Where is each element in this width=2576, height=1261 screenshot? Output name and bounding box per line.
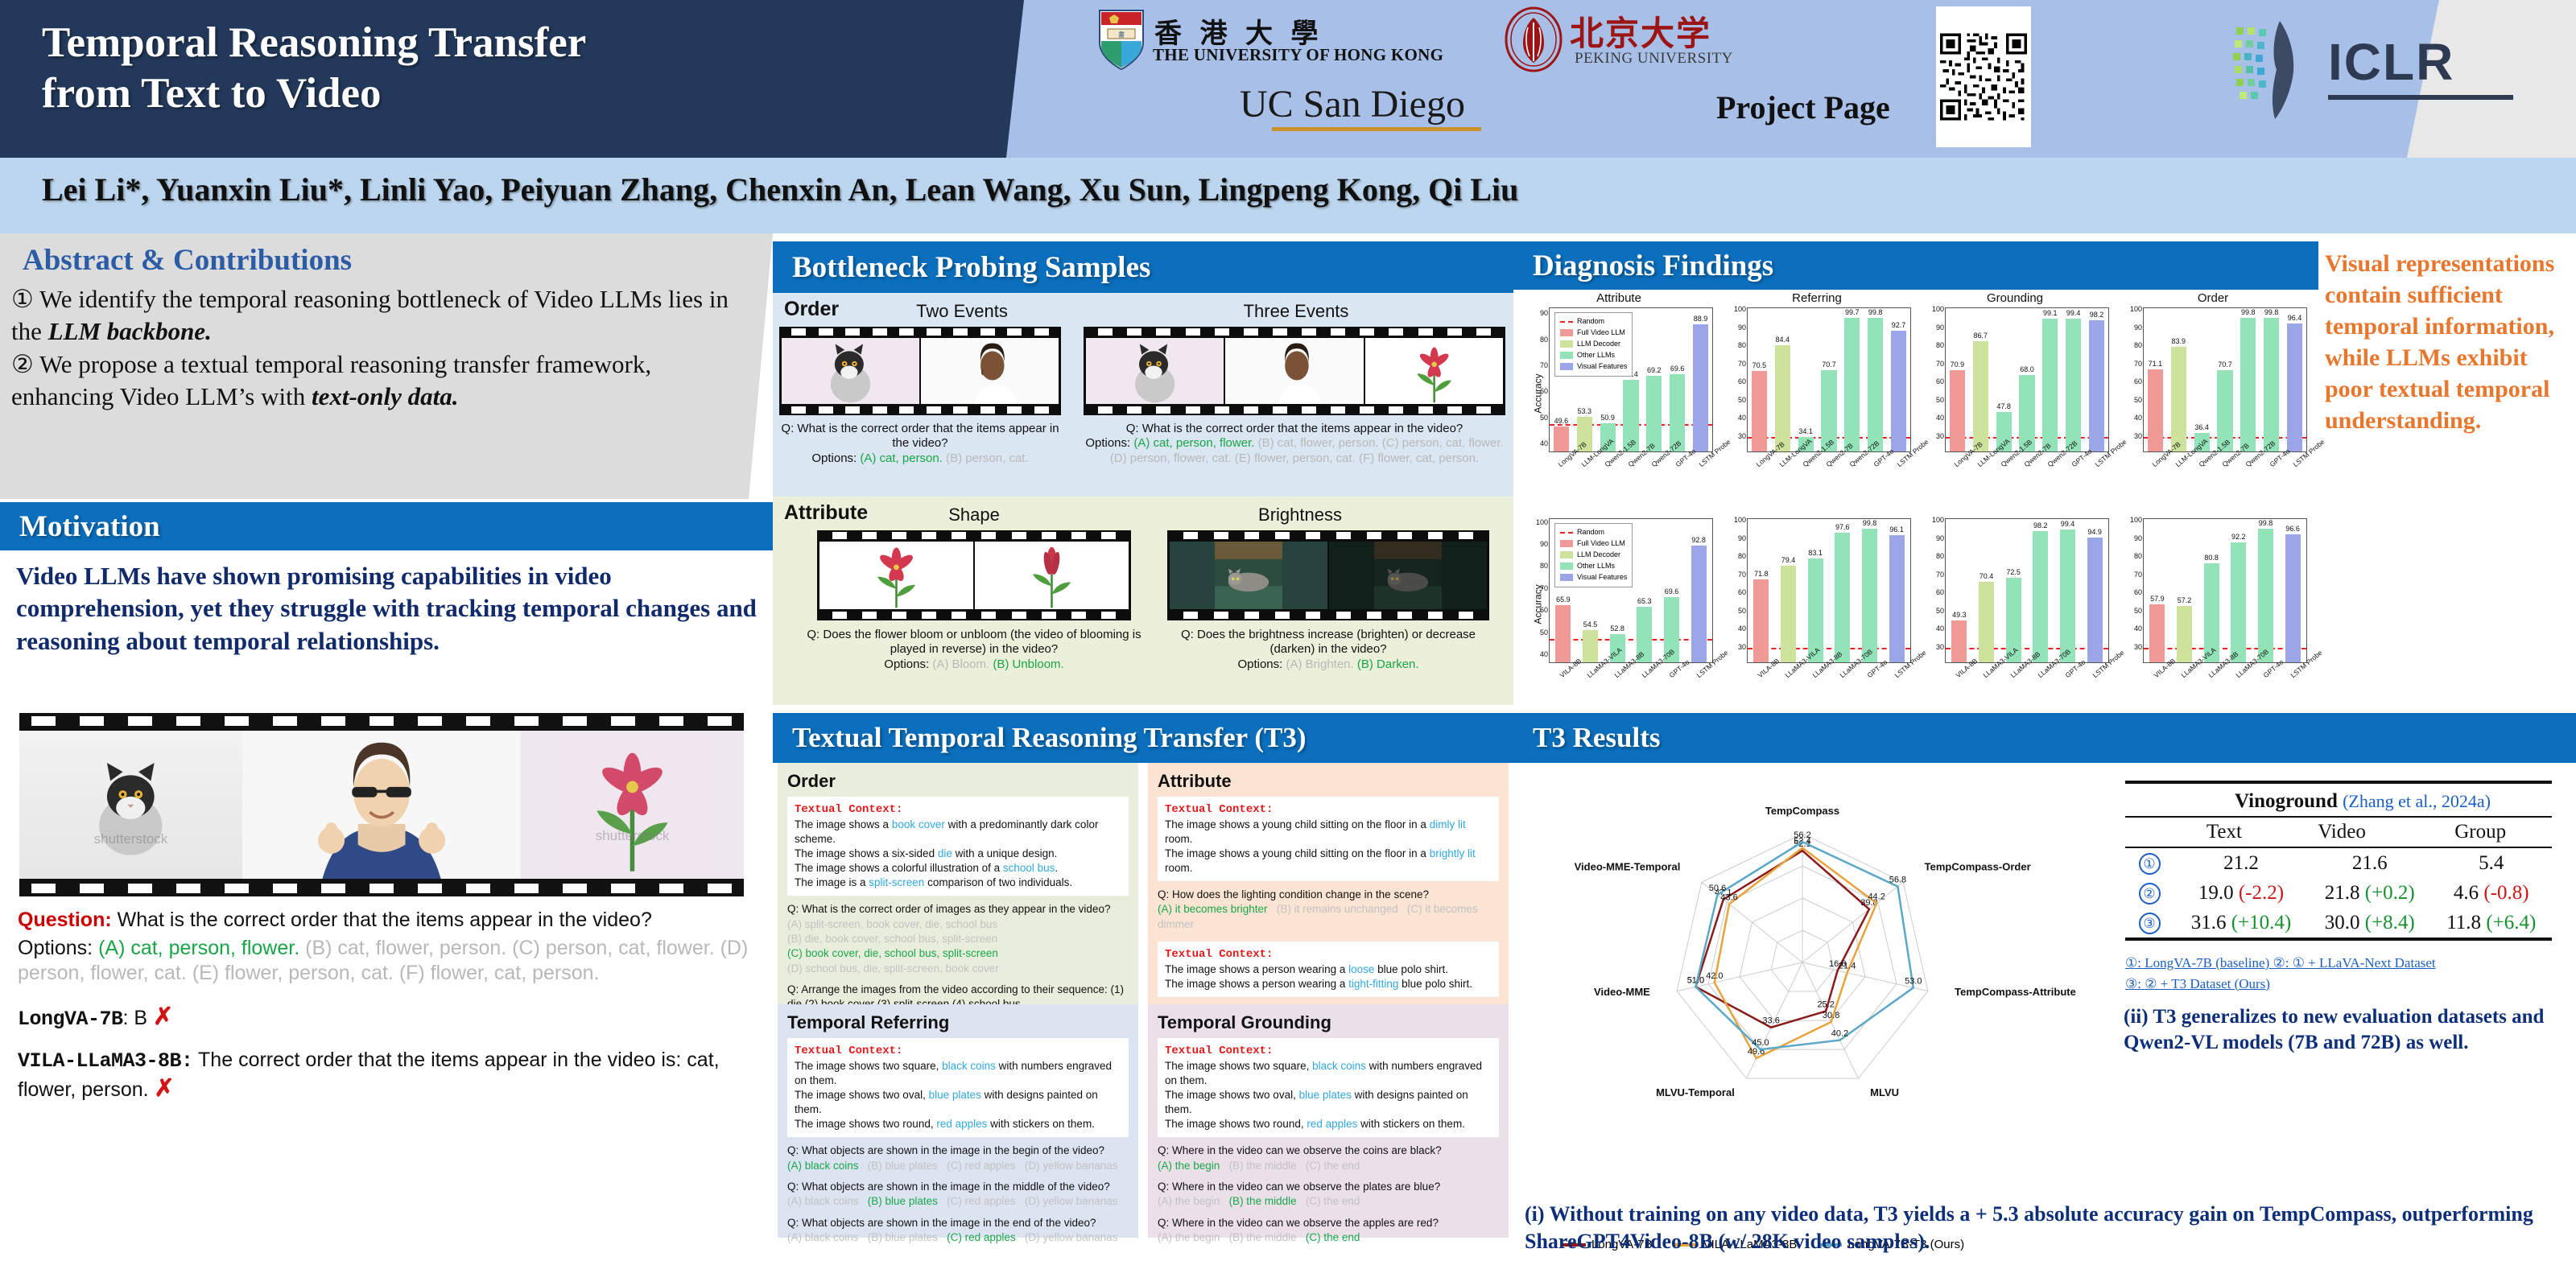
bar: 96.1 (1889, 535, 1905, 662)
radar-svg: 52.139.816.825.233.651.047.153.444.221.4… (1525, 771, 2080, 1149)
diagnosis-charts: Attribute Accuracy 405060708090 Random F… (1513, 290, 2318, 708)
three-events-label: Three Events (1191, 301, 1401, 322)
answer-option[interactable]: (B) blue plates (868, 1231, 938, 1243)
y-tick-label: 60 (1936, 588, 1944, 596)
y-tick-label: 30 (1936, 643, 1944, 651)
context-line: The image shows a young child sitting on… (1165, 847, 1492, 876)
bar: 99.8 (2258, 529, 2273, 662)
motivation-title: Motivation (19, 509, 160, 544)
pku-chinese-name: 北京大学 (1570, 6, 1711, 56)
bar: 99.4 (2060, 530, 2075, 662)
answer-option[interactable]: (B) the middle (1229, 1231, 1297, 1243)
iclr-logo-icon (2222, 18, 2318, 122)
order-section-tag: Order (784, 298, 839, 321)
two-events-label: Two Events (869, 301, 1055, 322)
vinoground-cell: 19.0 (-2.2) (2173, 878, 2309, 908)
bar: 84.4 (1775, 345, 1790, 451)
context-line: The image is a split-screen comparison o… (795, 876, 1121, 890)
t3-order-heading: Order (787, 771, 1129, 792)
y-tick-label: 80 (1738, 552, 1746, 560)
bar: 57.9 (2149, 604, 2165, 662)
probing-body: Order Two Events Three Events (773, 293, 1513, 705)
plot-area: 30405060708090100 70.584.434.170.799.799… (1747, 307, 1911, 452)
iclr-wordmark: ICLR (2328, 32, 2454, 92)
answer-option[interactable]: (A) split-screen, book cover, die, schoo… (787, 918, 997, 930)
three-events-question: Q: What is the correct order that the it… (1126, 422, 1463, 435)
probing-shape-question: Q: Does the flower bloom or unbloom (the… (805, 628, 1143, 672)
y-tick-label: 70 (1738, 360, 1746, 368)
bar: 92.2 (2231, 542, 2246, 662)
y-tick-label: 60 (1738, 588, 1746, 596)
frame-flower (1365, 338, 1503, 404)
ucsd-underline (1272, 127, 1481, 131)
bar: 71.8 (1753, 579, 1769, 662)
motivation-body: Video LLMs have shown promising capabili… (16, 560, 757, 657)
results-legend-keys: ①: LongVA-7B (baseline) ②: ① + LLaVA-Nex… (2125, 953, 2552, 994)
plot-area: 405060708090100 Random Full Video LLM LL… (1549, 518, 1713, 663)
bar: 92.8 (1691, 546, 1707, 662)
y-tick-label: 40 (1738, 414, 1746, 422)
y-tick-label: 50 (1540, 628, 1548, 637)
model-answer-longva: LongVA-7B: B ✗ (18, 1002, 758, 1032)
diagnosis-header: Diagnosis Findings (1513, 241, 2318, 290)
bar: 96.4 (2287, 323, 2302, 451)
answer-option[interactable]: (A) the begin (1158, 1195, 1220, 1207)
t3-question-block: Q: Where in the video can we observe the… (1158, 1144, 1499, 1173)
svg-text:33.6: 33.6 (1762, 1016, 1779, 1026)
project-page-label: Project Page (1716, 89, 1890, 126)
y-tick-label: 30 (2134, 643, 2142, 651)
bar-chart: 30405060708090100 49.370.472.598.299.494… (1916, 501, 2114, 708)
row-marker: ③ (2139, 913, 2161, 934)
chart-title: Referring (1718, 291, 1916, 305)
y-tick-label: 100 (1536, 518, 1548, 526)
answer-option[interactable]: (C) red apples (947, 1231, 1016, 1243)
y-tick-label: 40 (1936, 624, 1944, 633)
svg-text:TempCompass-Attribute: TempCompass-Attribute (1955, 986, 2076, 998)
shape-label: Shape (894, 505, 1055, 525)
t3-referring-questions: Q: What objects are shown in the image i… (787, 1144, 1129, 1245)
ucsd-logo-text: UC San Diego (1240, 82, 1465, 126)
svg-text:42.0: 42.0 (1706, 971, 1723, 981)
vinoground-column-header: Group (2409, 817, 2552, 847)
y-tick-label: 50 (1936, 396, 1944, 404)
chart-legend: Random Full Video LLM LLM Decoder Other … (1554, 523, 1633, 587)
t3-attribute-context-2: Textual Context:The image shows a person… (1158, 942, 1499, 997)
bar: 99.8 (1862, 529, 1877, 662)
vinoground-table: Vinoground (Zhang et al., 2024a) TextVid… (2125, 781, 2552, 941)
probing-attribute-section: Attribute Shape Brightness (773, 497, 1513, 705)
frame-cat-2 (1086, 338, 1224, 404)
y-tick-label: 40 (1738, 624, 1746, 633)
y-tick-label: 90 (1738, 534, 1746, 542)
y-tick-label: 60 (2134, 377, 2142, 385)
two-events-options-label: Options: (811, 451, 860, 465)
context-line: The image shows two oval, blue plates wi… (795, 1088, 1121, 1117)
y-tick-label: 80 (1540, 336, 1548, 344)
bar: 98.2 (2089, 320, 2104, 451)
answer-option[interactable]: (D) yellow bananas (1025, 1231, 1118, 1243)
y-tick-label: 30 (1738, 432, 1746, 440)
bar: 98.2 (2033, 531, 2048, 662)
y-tick-label: 90 (2134, 323, 2142, 332)
plot-area: 30405060708090100 70.986.747.868.099.199… (1945, 307, 2109, 452)
chart-title: Order (2114, 291, 2312, 305)
vinoground-cell: 31.6 (+10.4) (2173, 908, 2309, 938)
shape-question: Q: Does the flower bloom or unbloom (the… (807, 628, 1141, 656)
vinoground-row: ①21.221.65.4 (2125, 847, 2552, 878)
y-tick-label: 90 (1540, 309, 1548, 317)
bar: 99.7 (1844, 318, 1860, 451)
diagnosis-chart-row-top: Attribute Accuracy 405060708090 Random F… (1520, 290, 2312, 497)
probing-order-section: Order Two Events Three Events (773, 293, 1513, 497)
bar: 49.3 (1951, 620, 1967, 662)
t3-question-block: Q: What objects are shown in the image i… (787, 1180, 1129, 1209)
vinoground-data-rows: ①21.221.65.4②19.0 (-2.2)21.8 (+0.2)4.6 (… (2125, 847, 2552, 938)
t3-referring-context: Textual Context:The image shows two squa… (787, 1038, 1129, 1137)
attribute-section-tag: Attribute (784, 501, 868, 525)
plot-area: 30405060708090100 57.957.280.892.299.896… (2143, 518, 2307, 663)
chart-title: Grounding (1916, 291, 2114, 305)
y-tick-label: 40 (2134, 414, 2142, 422)
y-tick-label: 30 (1738, 643, 1746, 651)
bar: 83.9 (2171, 347, 2186, 451)
context-line: The image shows a book cover with a pred… (795, 818, 1121, 847)
y-tick-label: 100 (1734, 516, 1746, 524)
motivation-frame-cat: shutterstock (19, 731, 242, 879)
svg-text:50.6: 50.6 (1709, 884, 1726, 893)
vinoground-citation: (Zhang et al., 2024a) (2343, 791, 2491, 811)
filmstrip-sprocket-bottom (19, 884, 744, 893)
vinoground-cell: 21.2 (2173, 847, 2309, 878)
bar-chart: 30405060708090100 57.957.280.892.299.896… (2114, 501, 2312, 708)
brightness-options-label: Options: (1237, 657, 1286, 671)
motivation-question-line: Question: What is the correct order that… (18, 908, 758, 933)
y-tick-label: 90 (1936, 323, 1944, 332)
brightness-option-correct: (B) Darken. (1357, 657, 1419, 671)
t3-order-q1: Q: What is the correct order of images a… (787, 902, 1129, 976)
svg-text:56.8: 56.8 (1889, 876, 1906, 885)
context-line: The image shows a six-sided die with a u… (795, 847, 1121, 861)
probing-filmstrip-brightness (1167, 530, 1489, 620)
answer-option[interactable]: (A) black coins (787, 1195, 859, 1207)
answer-option[interactable]: (D) yellow bananas (1025, 1160, 1118, 1172)
question-text: What is the correct order that the items… (112, 909, 652, 931)
answer-option[interactable]: (C) the end (1306, 1231, 1360, 1243)
probing-three-question: Q: What is the correct order that the it… (1084, 422, 1505, 466)
y-tick-label: 50 (1936, 607, 1944, 615)
frame-person-2 (1225, 338, 1363, 404)
bar: 88.9 (1693, 324, 1708, 451)
answer-option[interactable]: (C) book cover, die, school bus, split-s… (787, 947, 998, 959)
results-body: 52.139.816.825.233.651.047.153.444.221.4… (1513, 763, 2576, 1261)
diagnosis-side-note: Visual representations contain sufficien… (2325, 248, 2566, 436)
y-tick-label: 50 (2134, 607, 2142, 615)
y-tick-label: 70 (2134, 571, 2142, 579)
svg-text:MLVU: MLVU (1870, 1086, 1899, 1098)
vinoground-cell: 11.8 (+6.4) (2431, 908, 2552, 938)
vinoground-cell: 30.0 (+8.4) (2309, 908, 2431, 938)
t3-attribute-heading: Attribute (1158, 771, 1499, 792)
y-tick-label: 60 (1936, 377, 1944, 385)
two-events-option-rest: (B) person, cat. (943, 451, 1029, 465)
y-tick-label: 60 (1540, 606, 1548, 614)
y-tick-label: 30 (1936, 432, 1944, 440)
author-list-band: Lei Li*, Yuanxin Liu*, Linli Yao, Peiyua… (0, 158, 2576, 233)
abstract-title: Abstract & Contributions (23, 243, 352, 278)
three-events-options-label: Options: (1085, 436, 1133, 450)
plot-area: 30405060708090100 49.370.472.598.299.494… (1945, 518, 2109, 663)
abstract-panel: Abstract & Contributions ① We identify t… (0, 233, 773, 499)
bar-chart: Grounding 30405060708090100 70.986.747.8… (1916, 290, 2114, 497)
y-tick-label: 50 (1540, 414, 1548, 422)
y-tick-label: 40 (2134, 624, 2142, 633)
y-tick-label: 60 (2134, 588, 2142, 596)
results-title: T3 Results (1533, 722, 1661, 754)
context-line: The image shows a person wearing a loose… (1165, 962, 1492, 977)
results-note-i: (i) Without training on any video data, … (1525, 1201, 2563, 1255)
y-tick-label: 60 (1540, 387, 1548, 395)
answer-option[interactable]: (B) blue plates (868, 1195, 938, 1207)
t3-grounding-heading: Temporal Grounding (1158, 1012, 1499, 1033)
y-tick-label: 90 (1936, 534, 1944, 542)
vinoground-title: Vinoground (2235, 790, 2338, 812)
plot-area: 30405060708090100 71.879.483.197.699.896… (1747, 518, 1911, 663)
y-tick-label: 50 (1738, 396, 1746, 404)
frame-flower-bloom (819, 542, 973, 609)
t3-grounding-questions: Q: Where in the video can we observe the… (1158, 1144, 1499, 1245)
shape-option-dim: (A) Bloom. (932, 657, 993, 671)
poster-title: Temporal Reasoning Transferfrom Text to … (42, 18, 960, 118)
t3-question-block: Q: What objects are shown in the image i… (787, 1144, 1129, 1173)
bar-chart: 30405060708090100 71.879.483.197.699.896… (1718, 501, 1916, 708)
context-line: The image shows two square, black coins … (1165, 1059, 1492, 1088)
frame-flower-unbloom (975, 542, 1129, 609)
y-tick-label: 100 (1932, 305, 1944, 313)
brightness-question: Q: Does the brightness increase (brighte… (1181, 628, 1476, 656)
options-label: Options: (18, 937, 98, 959)
frame-bright (1170, 542, 1327, 609)
bar: 49.6 (1554, 427, 1569, 451)
t3-header: Textual Temporal Reasoning Transfer (T3) (773, 713, 1513, 763)
y-tick-label: 40 (1540, 439, 1548, 447)
probing-header: Bottleneck Probing Samples (773, 241, 1513, 293)
plot-area: 30405060708090100 71.183.936.470.799.899… (2143, 307, 2307, 452)
bar: 99.1 (2042, 319, 2058, 451)
y-tick-label: 40 (1936, 414, 1944, 422)
svg-text:51.0: 51.0 (1687, 975, 1704, 985)
y-tick-label: 80 (1936, 552, 1944, 560)
svg-text:TempCompass-Order: TempCompass-Order (1925, 860, 2031, 872)
answer-option[interactable]: (B) it remains unchanged (1277, 903, 1398, 915)
bar: 54.5 (1583, 630, 1598, 662)
y-tick-label: 30 (2134, 432, 2142, 440)
motivation-frame-flower: shutterstock (521, 731, 744, 879)
answer-option[interactable]: (A) the begin (1158, 1160, 1220, 1172)
option-correct: (A) cat, person, flower. (98, 937, 299, 959)
answer-option[interactable]: (A) black coins (787, 1160, 859, 1172)
frame-cat (782, 338, 919, 404)
results-radar-chart: 52.139.816.825.233.651.047.153.444.221.4… (1525, 771, 2080, 1189)
hku-crest-icon: 書 (1096, 8, 1146, 71)
bar: 97.6 (1835, 533, 1850, 662)
answer-option[interactable]: (A) black coins (787, 1231, 859, 1243)
bar: 57.2 (2177, 606, 2192, 662)
bar: 65.9 (1555, 605, 1571, 662)
hku-english-name: THE UNIVERSITY OF HONG KONG (1153, 45, 1443, 65)
svg-text:45.0: 45.0 (1752, 1038, 1769, 1048)
probing-filmstrip-shape (817, 530, 1131, 620)
author-list: Lei Li*, Yuanxin Liu*, Linli Yao, Peiyua… (42, 171, 1518, 208)
frame-person (921, 338, 1059, 404)
two-events-option-correct: (A) cat, person. (860, 451, 943, 465)
bar: 99.8 (1868, 318, 1883, 451)
bar: 99.8 (2240, 318, 2256, 451)
context-line: The image shows a colorful illustration … (795, 861, 1121, 876)
vinoground-cell: 21.8 (+0.2) (2309, 878, 2431, 908)
probing-brightness-question: Q: Does the brightness increase (brighte… (1159, 628, 1497, 672)
t3-referring-box: Temporal Referring Textual Context:The i… (778, 1004, 1138, 1238)
probing-filmstrip-three (1084, 327, 1505, 415)
model-answer-text-1: : B (123, 1007, 148, 1029)
t3-left-column: Order Textual Context:The image shows a … (773, 763, 1143, 1261)
motivation-header: Motivation (0, 502, 773, 550)
answer-option[interactable]: (A) it becomes brighter (1158, 903, 1268, 915)
question-text: Q: What is the correct order of images a… (787, 902, 1129, 917)
contribution-1-emphasis: LLM backbone. (48, 317, 212, 345)
answer-option[interactable]: (B) the middle (1229, 1195, 1297, 1207)
t3-grounding-box: Temporal Grounding Textual Context:The i… (1148, 1004, 1509, 1238)
t3-right-column: Attribute Textual Context:The image show… (1143, 763, 1513, 1261)
context-line: The image shows two square, black coins … (795, 1059, 1121, 1088)
bar: 79.4 (1781, 566, 1796, 662)
t3-attribute-box: Attribute Textual Context:The image show… (1148, 763, 1509, 1004)
bar-chart: Attribute Accuracy 405060708090 Random F… (1520, 290, 1718, 497)
answer-option[interactable]: (D) yellow bananas (1025, 1195, 1118, 1207)
y-tick-label: 70 (1936, 360, 1944, 368)
vinoground-row: ③31.6 (+10.4)30.0 (+8.4)11.8 (+6.4) (2125, 908, 2552, 938)
t3-title: Textual Temporal Reasoning Transfer (T3) (792, 722, 1307, 754)
poster-header: Temporal Reasoning Transferfrom Text to … (0, 0, 2576, 158)
y-tick-label: 80 (1738, 341, 1746, 349)
t3-body: Order Textual Context:The image shows a … (773, 763, 1513, 1261)
context-line: The image shows two oval, blue plates wi… (1165, 1088, 1492, 1117)
results-note-ii: (ii) T3 generalizes to new evaluation da… (2124, 1004, 2558, 1056)
bar: 96.6 (2285, 534, 2301, 662)
bar: 99.8 (2264, 318, 2279, 451)
vinoground-cell: 5.4 (2431, 847, 2552, 878)
pku-english-name: PEKING UNIVERSITY (1575, 50, 1733, 68)
y-tick-label: 80 (1540, 562, 1548, 570)
project-page-qr-code[interactable] (1936, 6, 2031, 147)
t3-question-block: Q: Where in the video can we observe the… (1158, 1180, 1499, 1209)
shape-options-label: Options: (884, 657, 932, 671)
diagnosis-chart-row-bottom: Accuracy 405060708090100 Random Full Vid… (1520, 501, 2312, 708)
question-text: Q: How does the lighting condition chang… (1158, 888, 1499, 902)
svg-text:MLVU-Temporal: MLVU-Temporal (1656, 1086, 1735, 1098)
motivation-filmstrip: shutterstock (19, 713, 744, 896)
y-tick-label: 80 (1936, 341, 1944, 349)
answer-option[interactable]: (C) the end (1306, 1195, 1360, 1207)
t3-question-block: Q: Where in the video can we observe the… (1158, 1216, 1499, 1246)
chart-title: Attribute (1520, 291, 1718, 305)
answer-option[interactable]: (C) red apples (947, 1195, 1016, 1207)
answer-option[interactable]: (D) school bus, die, split-screen, book … (787, 962, 999, 975)
diagnosis-title: Diagnosis Findings (1533, 249, 1773, 283)
probing-filmstrip-two (779, 327, 1061, 415)
svg-text:44.2: 44.2 (1868, 892, 1885, 902)
bar: 71.1 (2148, 369, 2163, 451)
plot-area: 405060708090 Random Full Video LLM LLM D… (1549, 307, 1713, 452)
y-tick-label: 100 (2130, 305, 2142, 313)
bar: 86.7 (1973, 341, 1988, 451)
answer-option[interactable]: (B) the middle (1229, 1160, 1297, 1172)
svg-text:TempCompass: TempCompass (1765, 805, 1839, 817)
iclr-underline (2328, 95, 2513, 100)
y-tick-label: 40 (1540, 650, 1548, 658)
answer-option[interactable]: (B) die, book cover, school bus, split-s… (787, 933, 997, 945)
answer-option[interactable]: (A) the begin (1158, 1231, 1220, 1243)
answer-option[interactable]: (C) red apples (947, 1160, 1016, 1172)
answer-option[interactable]: (C) the end (1306, 1160, 1360, 1172)
bar-chart: Referring 30405060708090100 70.584.434.1… (1718, 290, 1916, 497)
y-tick-label: 50 (1738, 607, 1746, 615)
contribution-2-emphasis: text-only data. (312, 382, 459, 410)
y-tick-label: 50 (2134, 396, 2142, 404)
two-events-question: Q: What is the correct order that the it… (781, 422, 1059, 450)
svg-text:21.4: 21.4 (1839, 962, 1856, 971)
y-tick-label: 80 (2134, 341, 2142, 349)
bar-chart: Order 30405060708090100 71.183.936.470.7… (2114, 290, 2312, 497)
y-tick-label: 100 (1932, 516, 1944, 524)
svg-text:43.6: 43.6 (1720, 893, 1737, 903)
results-key-1: ①: LongVA-7B (baseline) ②: ① + LLaVA-Nex… (2125, 955, 2436, 970)
y-tick-label: 70 (1738, 571, 1746, 579)
y-tick-label: 70 (2134, 360, 2142, 368)
y-tick-label: 100 (2130, 516, 2142, 524)
y-tick-label: 80 (2134, 552, 2142, 560)
y-tick-label: 90 (1540, 540, 1548, 548)
chart-legend: Random Full Video LLM LLM Decoder Other … (1554, 312, 1633, 377)
watermark-text: shutterstock (94, 831, 168, 847)
brightness-option-dim: (A) Brighten. (1286, 657, 1356, 671)
vinoground-cell: 21.6 (2309, 847, 2431, 878)
probing-two-question: Q: What is the correct order that the it… (779, 422, 1061, 466)
row-marker: ① (2139, 853, 2161, 875)
row-marker: ② (2139, 883, 2161, 905)
abstract-body: ① We identify the temporal reasoning bot… (11, 283, 752, 413)
bar: 92.7 (1891, 331, 1906, 451)
three-events-option-correct: (A) cat, person, flower. (1133, 436, 1254, 450)
context-line: The image shows two round, red apples wi… (795, 1117, 1121, 1131)
y-tick-label: 90 (1738, 323, 1746, 332)
model-name-longva: LongVA-7B (18, 1008, 123, 1031)
y-tick-label: 100 (1734, 305, 1746, 313)
vinoground-row: ②19.0 (-2.2)21.8 (+0.2)4.6 (-0.8) (2125, 878, 2552, 908)
svg-text:書: 書 (1118, 31, 1125, 39)
context-line: The image shows a young child sitting on… (1165, 818, 1492, 847)
wrong-mark-icon-2: ✗ (155, 1075, 175, 1102)
bar: 70.4 (1979, 582, 1994, 662)
filmstrip-sprocket-top (19, 716, 744, 726)
vinoground-column-header: Text (2173, 817, 2275, 847)
svg-text:25.2: 25.2 (1817, 1000, 1834, 1010)
y-tick-label: 70 (1540, 584, 1548, 592)
t3-grounding-context: Textual Context:The image shows two squa… (1158, 1038, 1499, 1137)
motivation-frame-person (242, 731, 521, 879)
bar: 94.9 (2087, 538, 2103, 662)
answer-option[interactable]: (B) blue plates (868, 1160, 938, 1172)
